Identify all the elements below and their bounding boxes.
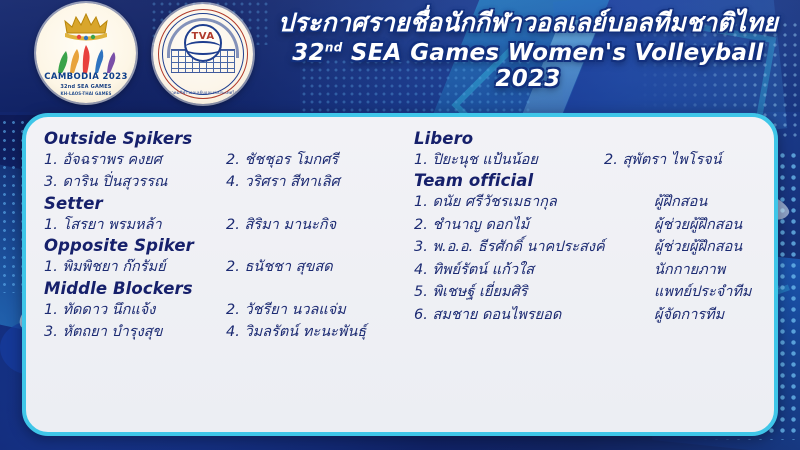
libero-section: Libero 1. ปิยะนุช แป้นน้อย2. สุพัตรา ไพโ… <box>414 129 760 171</box>
page-title-english: 32nd SEA Games Women's Volleyball 2023 <box>258 40 798 92</box>
player-name: 2. ชัชชุอร โมกศรี <box>226 149 338 171</box>
official-row: 5. พิเชษฐ์ เยี่ยมศิริแพทย์ประจำทีม <box>414 281 760 303</box>
tva-logo: TVA สมาคมกีฬาวอลเลย์บอลแห่งประเทศไทย <box>153 4 253 104</box>
player-row: 1. ทัดดาว นึกแจ้ง2. วัชรียา นวลแจ่ม <box>44 299 402 321</box>
section-heading-middle-blockers: Middle Blockers <box>44 279 402 298</box>
section-heading-setter: Setter <box>44 194 402 213</box>
player-row: 3. หัตถยา บำรุงสุข4. วิมลรัตน์ ทะนะพันธุ… <box>44 321 402 343</box>
player-row: 1. อัจฉราพร คงยศ2. ชัชชุอร โมกศรี <box>44 149 402 171</box>
section-heading-opposite-spiker: Opposite Spiker <box>44 236 402 255</box>
official-role: ผู้ฝึกสอน <box>654 191 707 213</box>
player-list: 1. ทัดดาว นึกแจ้ง2. วัชรียา นวลแจ่ม3. หั… <box>44 299 402 344</box>
team-official-section: Team official 1. ดนัย ศรีวัชรเมธากุลผู้ฝ… <box>414 171 760 326</box>
player-row: 1. โสรยา พรมหล้า2. สิริมา มานะกิจ <box>44 214 402 236</box>
poster-title-block: ประกาศรายชื่อนักกีฬาวอลเลย์บอลทีมชาติไทย… <box>258 8 798 92</box>
tva-mark-label: TVA <box>153 31 253 42</box>
official-name: 5. พิเชษฐ์ เยี่ยมศิริ <box>414 281 654 303</box>
official-row: 2. ชำนาญ ดอกไม้ผู้ช่วยผู้ฝึกสอน <box>414 214 760 236</box>
player-name: 3. ดาริน ปิ่นสุวรรณ <box>44 171 226 193</box>
roster-card: Outside Spikers1. อัจฉราพร คงยศ2. ชัชชุอ… <box>22 113 778 436</box>
player-list: 1. พิมพิชยา ก๊กรัมย์2. ธนัชชา สุขสด <box>44 256 402 278</box>
players-column: Outside Spikers1. อัจฉราพร คงยศ2. ชัชชุอ… <box>44 129 402 422</box>
player-name: 1. ปิยะนุช แป้นน้อย <box>414 149 604 171</box>
player-name: 2. ธนัชชา สุขสด <box>226 256 333 278</box>
officials-column: Libero 1. ปิยะนุช แป้นน้อย2. สุพัตรา ไพโ… <box>402 129 760 422</box>
official-role: ผู้ช่วยผู้ฝึกสอน <box>654 214 742 236</box>
official-row: 3. พ.อ.อ. ธีรศักดิ์ นาคประสงค์ผู้ช่วยผู้… <box>414 236 760 258</box>
volleyball-icon <box>184 24 222 62</box>
official-name: 6. สมชาย ดอนไพรยอด <box>414 304 654 326</box>
official-name: 2. ชำนาญ ดอกไม้ <box>414 214 654 236</box>
official-name: 3. พ.อ.อ. ธีรศักดิ์ นาคประสงค์ <box>414 236 654 258</box>
player-list: 1. อัจฉราพร คงยศ2. ชัชชุอร โมกศรี3. ดาริ… <box>44 149 402 194</box>
player-name: 3. หัตถยา บำรุงสุข <box>44 321 226 343</box>
tva-ring-text: สมาคมกีฬาวอลเลย์บอลแห่งประเทศไทย <box>153 89 253 96</box>
sea-games-cambodia-logo: CAMBODIA 2023 32nd SEA GAMES KH-LAOS-THA… <box>36 3 136 103</box>
libero-row: 1. ปิยะนุช แป้นน้อย2. สุพัตรา ไพโรจน์ <box>414 149 760 171</box>
player-name: 1. พิมพิชยา ก๊กรัมย์ <box>44 256 226 278</box>
player-name: 2. วัชรียา นวลแจ่ม <box>226 299 346 321</box>
angkor-crown-icon <box>55 13 117 47</box>
player-name: 1. โสรยา พรมหล้า <box>44 214 226 236</box>
page-title-thai: ประกาศรายชื่อนักกีฬาวอลเลย์บอลทีมชาติไทย <box>258 8 798 38</box>
official-role: นักกายภาพ <box>654 259 725 281</box>
player-name: 1. อัจฉราพร คงยศ <box>44 149 226 171</box>
section-heading-libero: Libero <box>414 129 760 148</box>
official-name: 4. ทิพย์รัตน์ แก้วใส <box>414 259 654 281</box>
official-name: 1. ดนัย ศรีวัชรเมธากุล <box>414 191 654 213</box>
player-name: 2. สุพัตรา ไพโรจน์ <box>604 149 722 171</box>
player-name: 4. วริศรา สีทาเลิศ <box>226 171 340 193</box>
player-row: 3. ดาริน ปิ่นสุวรรณ4. วริศรา สีทาเลิศ <box>44 171 402 193</box>
official-row: 6. สมชาย ดอนไพรยอดผู้จัดการทีม <box>414 304 760 326</box>
official-role: ผู้ช่วยผู้ฝึกสอน <box>654 236 742 258</box>
sea-logo-caption-sub: 32nd SEA GAMES <box>36 84 136 90</box>
player-name: 1. ทัดดาว นึกแจ้ง <box>44 299 226 321</box>
player-name: 2. สิริมา มานะกิจ <box>226 214 336 236</box>
section-heading-team-official: Team official <box>414 171 760 190</box>
title-en-prefix: 32 <box>292 40 325 66</box>
title-en-rest: SEA Games Women's Volleyball 2023 <box>343 40 764 92</box>
player-list: 1. โสรยา พรมหล้า2. สิริมา มานะกิจ <box>44 214 402 236</box>
official-role: ผู้จัดการทีม <box>654 304 724 326</box>
player-name: 4. วิมลรัตน์ ทะนะพันธุ์ <box>226 321 366 343</box>
official-row: 1. ดนัย ศรีวัชรเมธากุลผู้ฝึกสอน <box>414 191 760 213</box>
sea-games-figures-icon <box>50 43 122 75</box>
official-row: 4. ทิพย์รัตน์ แก้วใสนักกายภาพ <box>414 259 760 281</box>
sea-logo-caption-sub2: KH-LAOS-THAI GAMES <box>36 91 136 96</box>
poster-root: CAMBODIA 2023 32nd SEA GAMES KH-LAOS-THA… <box>0 0 800 450</box>
player-row: 1. พิมพิชยา ก๊กรัมย์2. ธนัชชา สุขสด <box>44 256 402 278</box>
section-heading-outside-spikers: Outside Spikers <box>44 129 402 148</box>
official-role: แพทย์ประจำทีม <box>654 281 752 303</box>
sea-logo-caption-main: CAMBODIA 2023 <box>36 72 136 82</box>
title-en-ordinal: nd <box>325 40 343 54</box>
